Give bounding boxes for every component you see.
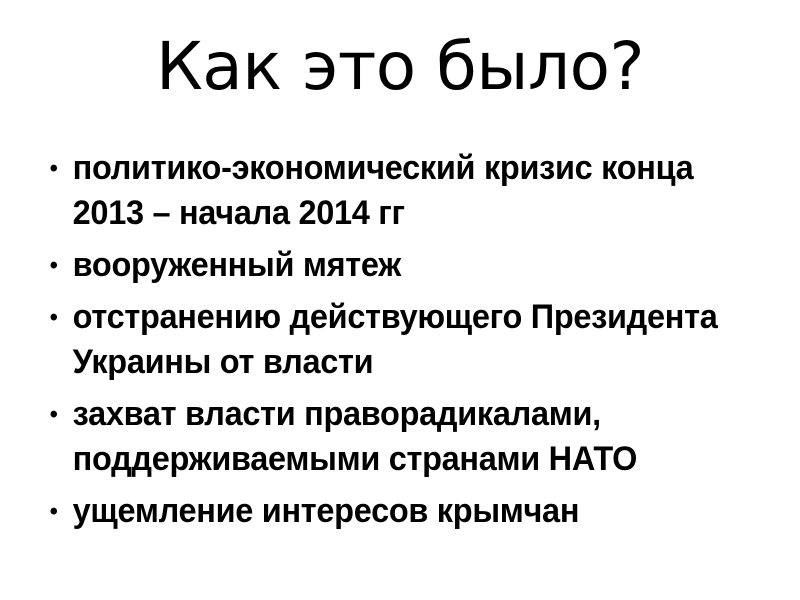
bullet-marker-icon: • [50,489,67,534]
bullet-marker-icon: • [50,243,67,288]
page-title: Как это было? [0,34,800,100]
list-item: • захват власти праворадикалами, поддерж… [44,392,724,482]
bullet-marker-icon: • [50,295,67,340]
list-item: • отстранению действующего Президента Ук… [44,295,724,385]
list-item-label: вооруженный мятеж [73,243,724,288]
bullet-marker-icon: • [50,392,67,437]
presentation-slide: Как это было? • политико-экономический к… [0,0,800,600]
list-item-label: политико-экономический кризис конца 2013… [73,146,724,236]
list-item-label: ущемление интересов крымчан [73,489,724,534]
bullet-marker-icon: • [50,146,67,191]
list-item: • политико-экономический кризис конца 20… [44,146,724,236]
list-item-label: отстранению действующего Президента Укра… [73,295,724,385]
bullet-list: • политико-экономический кризис конца 20… [44,146,756,541]
list-item: • ущемление интересов крымчан [44,489,724,534]
list-item-label: захват власти праворадикалами, поддержив… [73,392,724,482]
list-item: • вооруженный мятеж [44,243,724,288]
